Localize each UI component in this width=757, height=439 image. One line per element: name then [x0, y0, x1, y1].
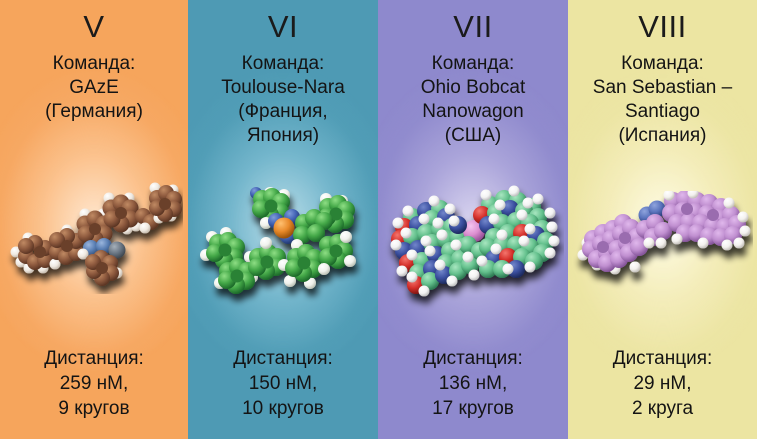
distance-label: Дистанция:: [44, 346, 144, 371]
gaze-nanocar-molecule: [5, 176, 183, 294]
team-panel-v: V Команда: GAzE (Германия): [0, 0, 188, 439]
team-panel-vi: VI Команда: Toulouse-Nara (Франция, Япон…: [188, 0, 378, 439]
team-country: (Испания): [593, 124, 732, 148]
distance-value: 136 нМ,: [423, 371, 523, 396]
laps-value: 10 кругов: [233, 396, 333, 421]
distance-info: Дистанция: 150 нМ, 10 кругов: [233, 346, 333, 439]
team-info: Команда: San Sebastian – Santiago (Испан…: [587, 52, 738, 148]
distance-value: 259 нМ,: [44, 371, 144, 396]
distance-value: 29 нМ,: [613, 371, 713, 396]
ohio-bobcat-nanowagon-molecule: [382, 183, 564, 311]
team-name-line1: Ohio Bobcat: [421, 76, 526, 100]
team-country-line2: Япония): [221, 124, 345, 148]
panel-numeral: V: [83, 9, 104, 45]
distance-value: 150 нМ,: [233, 371, 333, 396]
team-name-line2: Nanowagon: [421, 100, 526, 124]
laps-value: 17 кругов: [423, 396, 523, 421]
nanocar-race-panels: V Команда: GAzE (Германия): [0, 0, 757, 439]
team-name: GAzE: [45, 76, 143, 100]
team-name-line1: San Sebastian –: [593, 76, 732, 100]
team-info: Команда: Ohio Bobcat Nanowagon (США): [415, 52, 532, 148]
distance-label: Дистанция:: [233, 346, 333, 371]
team-country-line1: (Франция,: [221, 100, 345, 124]
team-info: Команда: Toulouse-Nara (Франция, Япония): [215, 52, 351, 148]
team-label: Команда:: [221, 52, 345, 76]
distance-info: Дистанция: 29 нМ, 2 круга: [613, 346, 713, 439]
molecule-image-ohio-bobcat: [378, 148, 568, 346]
team-panel-vii: VII Команда: Ohio Bobcat Nanowagon (США): [378, 0, 568, 439]
panel-numeral: VII: [453, 9, 492, 45]
laps-value: 9 кругов: [44, 396, 144, 421]
molecule-image-gaze: [0, 124, 188, 346]
team-country: (Германия): [45, 100, 143, 124]
team-panel-viii: VIII Команда: San Sebastian – Santiago (…: [568, 0, 757, 439]
panel-numeral: VIII: [638, 9, 687, 45]
distance-label: Дистанция:: [613, 346, 713, 371]
team-label: Команда:: [45, 52, 143, 76]
molecule-image-san-sebastian: [568, 148, 757, 346]
team-label: Команда:: [593, 52, 732, 76]
panel-numeral: VI: [268, 9, 298, 45]
molecule-image-toulouse-nara: [188, 148, 378, 346]
distance-info: Дистанция: 136 нМ, 17 кругов: [423, 346, 523, 439]
team-info: Команда: GAzE (Германия): [39, 52, 149, 124]
team-country: (США): [421, 124, 526, 148]
team-label: Команда:: [421, 52, 526, 76]
toulouse-nara-nanocar-molecule: [192, 185, 374, 309]
team-name: Toulouse-Nara: [221, 76, 345, 100]
distance-info: Дистанция: 259 нМ, 9 кругов: [44, 346, 144, 439]
laps-value: 2 круга: [613, 396, 713, 421]
team-name-line2: Santiago: [593, 100, 732, 124]
san-sebastian-santiago-nanocar-molecule: [573, 191, 753, 303]
distance-label: Дистанция:: [423, 346, 523, 371]
